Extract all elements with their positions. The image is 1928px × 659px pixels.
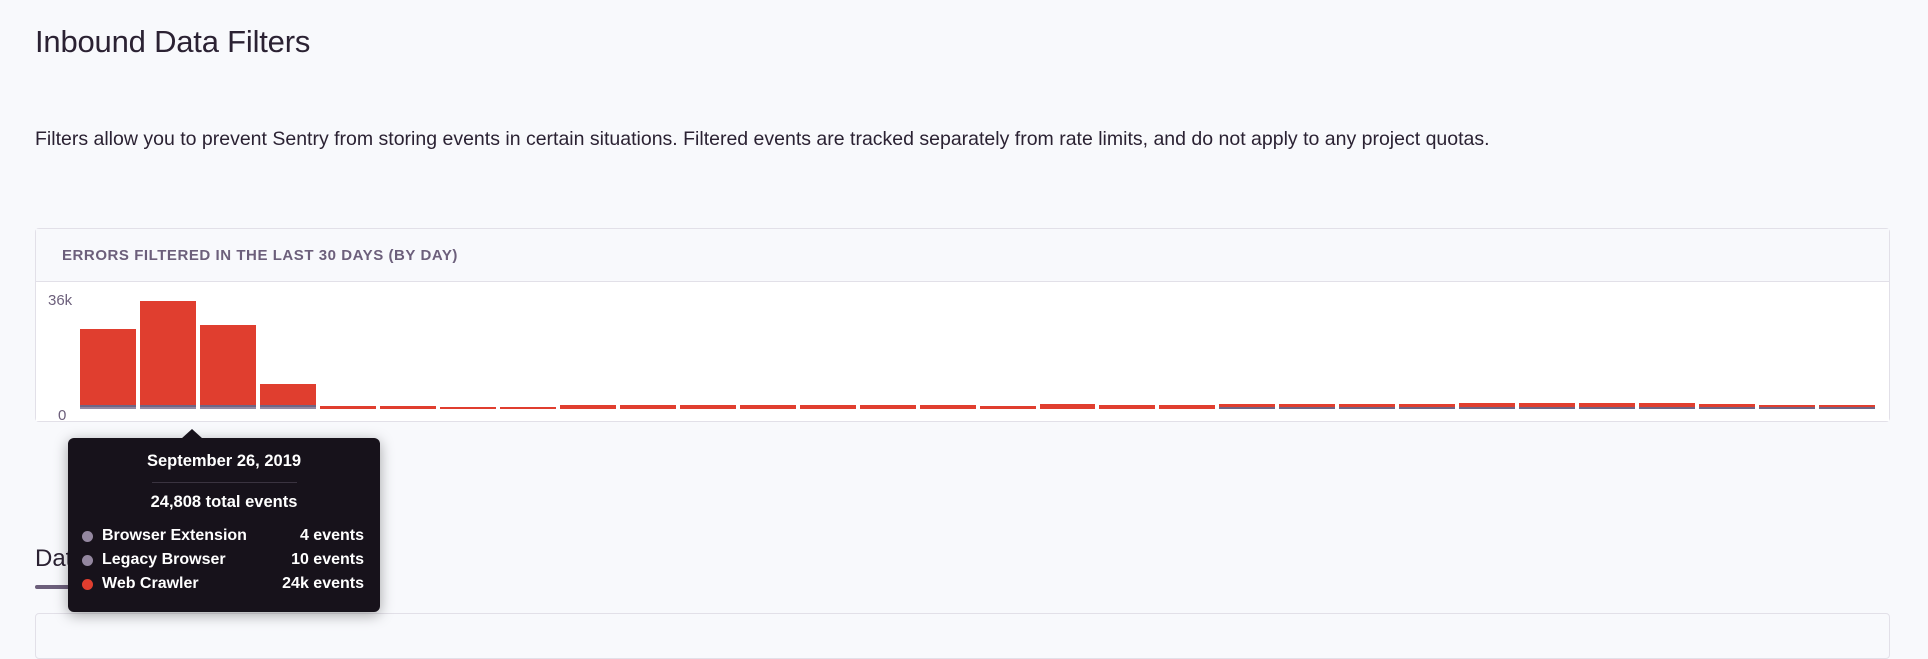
chart-bar[interactable] xyxy=(740,298,796,409)
chart-bar-segment xyxy=(1519,407,1575,409)
page-title: Inbound Data Filters xyxy=(35,24,310,60)
chart-bar-segment xyxy=(1459,407,1515,409)
chart-bar[interactable] xyxy=(980,298,1036,409)
chart-panel-title: ERRORS FILTERED IN THE LAST 30 DAYS (BY … xyxy=(62,247,458,264)
tooltip-date: September 26, 2019 xyxy=(68,452,380,482)
chart-bar-segment xyxy=(1099,405,1155,409)
chart-bar[interactable] xyxy=(1099,298,1155,409)
chart-bar[interactable] xyxy=(1279,298,1335,409)
legend-dot-icon xyxy=(82,555,93,566)
tooltip-divider xyxy=(152,482,297,483)
chart-bar-segment xyxy=(1219,407,1275,409)
chart-bar[interactable] xyxy=(260,298,316,409)
chart-bar[interactable] xyxy=(140,298,196,409)
chart-bar[interactable] xyxy=(1639,298,1695,409)
chart-bar[interactable] xyxy=(1579,298,1635,409)
tooltip-legend-label: Legacy Browser xyxy=(102,551,226,569)
chart-bar[interactable] xyxy=(560,298,616,409)
chart-bar[interactable] xyxy=(1219,298,1275,409)
chart-bar-segment xyxy=(1159,405,1215,409)
chart-bar-segment xyxy=(1579,407,1635,409)
chart-bar-segment xyxy=(1040,404,1096,409)
chart-bar[interactable] xyxy=(200,298,256,409)
inbound-data-filters-page: Inbound Data Filters Filters allow you t… xyxy=(0,0,1928,648)
tooltip-legend-label: Web Crawler xyxy=(102,575,199,593)
tooltip-legend-row: Browser Extension4 events xyxy=(68,524,380,548)
chart-bar-segment xyxy=(1819,407,1875,409)
chart-bars[interactable] xyxy=(80,298,1875,409)
chart-bar-segment xyxy=(1399,407,1455,409)
chart-bar[interactable] xyxy=(320,298,376,409)
chart-bar-segment xyxy=(800,405,856,409)
chart-bar-segment xyxy=(320,406,376,409)
chart-bar-segment xyxy=(260,407,316,409)
chart-bar[interactable] xyxy=(800,298,856,409)
chart-bar-segment xyxy=(740,405,796,409)
chart-bar[interactable] xyxy=(1339,298,1395,409)
chart-bar-segment xyxy=(560,405,616,409)
chart-bar-segment xyxy=(200,407,256,409)
data-filters-panel xyxy=(35,613,1890,659)
chart-bar[interactable] xyxy=(80,298,136,409)
page-description: Filters allow you to prevent Sentry from… xyxy=(35,120,1875,158)
chart-bar-segment xyxy=(140,301,196,406)
chart-bar[interactable] xyxy=(1459,298,1515,409)
chart-bar[interactable] xyxy=(920,298,976,409)
chart-plot-area[interactable]: 36k 0 xyxy=(36,282,1889,421)
chart-bar[interactable] xyxy=(440,298,496,409)
chart-bar-segment xyxy=(980,406,1036,409)
chart-bar-segment xyxy=(260,384,316,406)
tooltip-legend-rows: Browser Extension4 eventsLegacy Browser1… xyxy=(68,524,380,596)
chart-bar-segment xyxy=(920,405,976,409)
errors-filtered-chart-panel: ERRORS FILTERED IN THE LAST 30 DAYS (BY … xyxy=(35,228,1890,422)
tooltip-total-events: 24,808 total events xyxy=(68,493,380,524)
legend-dot-icon xyxy=(82,531,93,542)
chart-tooltip: September 26, 2019 24,808 total events B… xyxy=(68,438,380,612)
chart-bar-segment xyxy=(860,405,916,409)
chart-bar[interactable] xyxy=(1040,298,1096,409)
y-axis-zero-label: 0 xyxy=(58,407,66,424)
chart-bar-segment xyxy=(1759,407,1815,409)
chart-bar[interactable] xyxy=(1399,298,1455,409)
chart-bar[interactable] xyxy=(1759,298,1815,409)
chart-bar[interactable] xyxy=(1159,298,1215,409)
chart-bar[interactable] xyxy=(500,298,556,409)
chart-bar[interactable] xyxy=(1519,298,1575,409)
chart-bar[interactable] xyxy=(1699,298,1755,409)
chart-bar-segment xyxy=(1279,407,1335,409)
tooltip-arrow-icon xyxy=(181,429,203,439)
tooltip-legend-value: 4 events xyxy=(300,527,364,545)
tooltip-legend-row: Web Crawler24k events xyxy=(68,572,380,596)
chart-bar[interactable] xyxy=(860,298,916,409)
legend-dot-icon xyxy=(82,579,93,590)
chart-bar-segment xyxy=(620,405,676,409)
chart-bar[interactable] xyxy=(680,298,736,409)
chart-bar-segment xyxy=(80,407,136,409)
chart-bar-segment xyxy=(440,407,496,409)
chart-bar-segment xyxy=(1699,407,1755,409)
chart-bar-segment xyxy=(500,407,556,409)
chart-bar[interactable] xyxy=(380,298,436,409)
chart-bar-segment xyxy=(380,406,436,409)
chart-bar-segment xyxy=(140,407,196,409)
tooltip-legend-value: 24k events xyxy=(282,575,364,593)
chart-bar-segment xyxy=(1339,407,1395,409)
chart-bar-segment xyxy=(80,329,136,405)
chart-panel-header: ERRORS FILTERED IN THE LAST 30 DAYS (BY … xyxy=(36,229,1889,282)
chart-bar-segment xyxy=(680,405,736,409)
y-axis-max-label: 36k xyxy=(48,292,72,309)
chart-bar[interactable] xyxy=(1819,298,1875,409)
chart-bar-segment xyxy=(200,325,256,405)
tooltip-legend-value: 10 events xyxy=(291,551,364,569)
tooltip-legend-label: Browser Extension xyxy=(102,527,247,545)
tooltip-legend-row: Legacy Browser10 events xyxy=(68,548,380,572)
chart-bar-segment xyxy=(1639,407,1695,409)
chart-bar[interactable] xyxy=(620,298,676,409)
